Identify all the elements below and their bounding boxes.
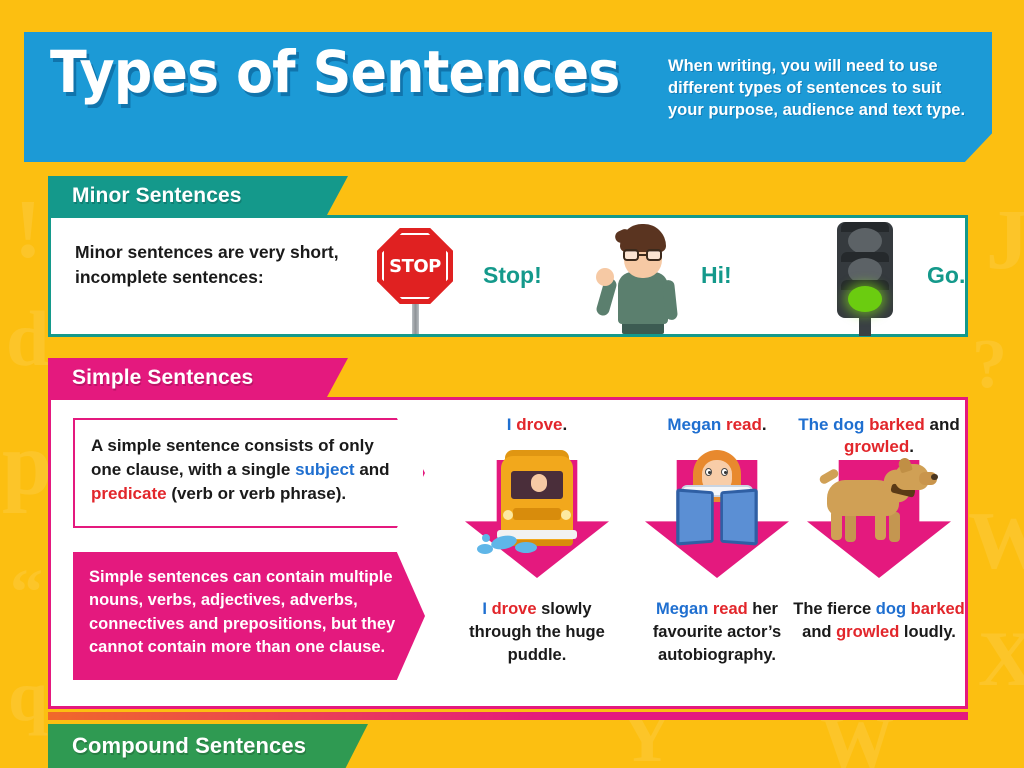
waving-boy-icon [596, 220, 688, 334]
bus-headlight-left [503, 510, 513, 520]
lamp-green-on [848, 286, 882, 312]
simple-definition-callout: A simple sentence consists of only one c… [73, 418, 425, 528]
long3-pre: The fierce [793, 600, 876, 618]
minor-description: Minor sentences are very short, incomple… [75, 240, 343, 290]
traffic-light-icon [823, 222, 909, 334]
stop-sign-icon: STOP [369, 224, 461, 334]
girl-reading-icon [631, 450, 803, 590]
simple-rule-text: Simple sentences can contain multiple no… [89, 566, 409, 660]
example-long-sentence-3: The fierce dog barked and growled loudly… [793, 598, 965, 644]
simple-example-column-1: I drove. [451, 414, 623, 436]
subject-keyword: subject [295, 460, 355, 479]
short2-rest: . [762, 415, 767, 434]
long1-predicate: drove [492, 600, 537, 618]
watermark-glyph: W [968, 500, 1024, 582]
short3-predicate: barked [869, 415, 925, 434]
long3-predicate: barked [911, 600, 965, 618]
school-bus-icon [451, 450, 623, 590]
short1-subject: I [507, 415, 516, 434]
watermark-glyph: X [978, 620, 1024, 698]
long2-subject: Megan [656, 600, 713, 618]
boy-glasses [620, 249, 666, 261]
example-short-sentence-2: Megan read. [631, 414, 803, 436]
glasses-lens-right [646, 249, 662, 261]
watermark-glyph: d [6, 300, 49, 378]
simple-sentences-panel: A simple sentence consists of only one c… [48, 397, 968, 709]
long1-subject: I [482, 600, 491, 618]
definition-text-part2: and [355, 460, 390, 479]
book-cover-right [720, 488, 758, 545]
section-title-minor: Minor Sentences [72, 184, 242, 208]
water-splash-icon [477, 534, 547, 558]
long3-rest2: loudly. [899, 623, 956, 641]
short1-rest: . [563, 415, 568, 434]
short3-subject: The dog [798, 415, 869, 434]
girl-eye-left [705, 468, 712, 476]
glasses-lens-left [623, 249, 639, 261]
dog-nose [931, 474, 938, 480]
boy-hair [620, 224, 666, 252]
watermark-glyph: ! [14, 188, 42, 272]
bus-grill [513, 508, 561, 520]
watermark-glyph: ? [972, 330, 1007, 400]
example-short-sentence-1: I drove. [451, 414, 623, 436]
dog-leg-rear-back [889, 512, 900, 542]
simple-rule-callout: Simple sentences can contain multiple no… [73, 552, 425, 680]
dog-illustration [817, 462, 937, 542]
glasses-bridge [639, 254, 646, 256]
octagon-shape: STOP [377, 228, 453, 304]
bus-driver [531, 474, 547, 492]
watermark-glyph: Y [620, 700, 673, 768]
short2-predicate: read [726, 415, 762, 434]
watermark-glyph: p [2, 420, 52, 510]
lamp-red-off [848, 228, 882, 254]
girl-eye-right [721, 468, 728, 476]
definition-text-part3: (verb or verb phrase). [167, 484, 347, 503]
girl-illustration [669, 448, 765, 556]
minor-example-label-stop: Stop! [483, 262, 542, 289]
minor-example-label-go: Go. [927, 262, 965, 289]
traffic-light-housing [837, 222, 893, 318]
poster-root: ! d p “ q J ? W X Y W Types of Sentences… [0, 0, 1024, 768]
watermark-glyph: J [986, 196, 1024, 282]
short3-rest: and [925, 415, 960, 434]
minor-sentences-panel: Minor sentences are very short, incomple… [48, 215, 968, 337]
short2-subject: Megan [667, 415, 726, 434]
watermark-glyph: q [8, 660, 48, 732]
bus-headlight-right [561, 510, 571, 520]
long3-rest: and [802, 623, 836, 641]
section-header-minor: Minor Sentences [48, 176, 348, 215]
predicate-keyword: predicate [91, 484, 167, 503]
long3-subject: dog [876, 600, 906, 618]
compound-divider-strip [48, 712, 968, 720]
header-subtitle: When writing, you will need to use diffe… [668, 56, 968, 121]
section-title-compound: Compound Sentences [72, 733, 306, 759]
stop-sign-text: STOP [389, 256, 441, 277]
section-header-compound: Compound Sentences [48, 724, 368, 768]
long3-predicate2: growled [836, 623, 899, 641]
section-header-simple: Simple Sentences [48, 358, 348, 397]
dog-icon [793, 450, 965, 590]
book-cover-left [676, 488, 714, 545]
long2-predicate: read [713, 600, 748, 618]
boy-torso [618, 272, 668, 324]
open-book-icon [677, 490, 757, 544]
section-title-simple: Simple Sentences [72, 366, 253, 390]
bus-illustration [495, 450, 579, 556]
example-long-sentence-2: Megan read her favourite actor’s autobio… [631, 598, 803, 666]
page-title: Types of Sentences [50, 38, 619, 106]
short1-predicate: drove [516, 415, 562, 434]
boy-hand [596, 268, 614, 286]
watermark-glyph: “ [10, 560, 43, 626]
example-long-sentence-1: I drove slowly through the huge puddle. [451, 598, 623, 666]
simple-example-column-2: Megan read. [631, 414, 803, 436]
dog-leg-front-back [845, 512, 856, 542]
minor-example-label-hi: Hi! [701, 262, 732, 289]
